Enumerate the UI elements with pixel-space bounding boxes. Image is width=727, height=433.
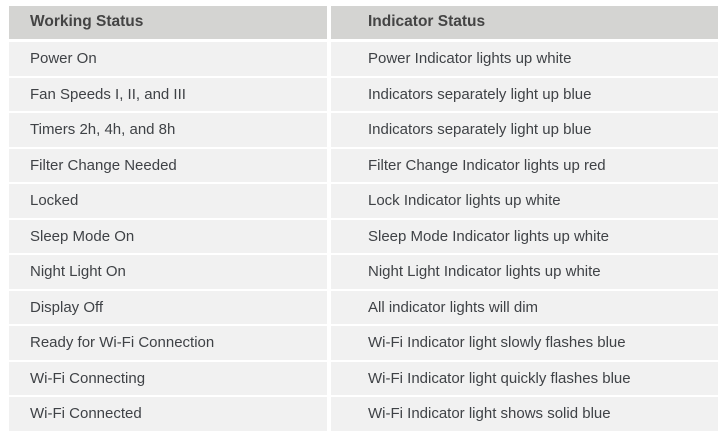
table-row: Locked Lock Indicator lights up white — [9, 182, 718, 218]
table-row: Power On Power Indicator lights up white — [9, 39, 718, 76]
table-row: Filter Change Needed Filter Change Indic… — [9, 147, 718, 183]
cell-working-status: Power On — [9, 39, 327, 76]
cell-working-status-text: Timers 2h, 4h, and 8h — [9, 121, 327, 138]
column-header-working-status: Working Status — [9, 6, 327, 39]
working-status-indicator-table: Working Status Indicator Status Power On… — [9, 6, 718, 431]
table-row: Display Off All indicator lights will di… — [9, 289, 718, 325]
cell-working-status-text: Sleep Mode On — [9, 228, 327, 245]
cell-indicator-status-text: Wi-Fi Indicator light quickly flashes bl… — [331, 370, 718, 387]
table-row: Timers 2h, 4h, and 8h Indicators separat… — [9, 111, 718, 147]
cell-indicator-status: Wi-Fi Indicator light shows solid blue — [331, 395, 718, 431]
column-header-indicator-status-label: Indicator Status — [331, 13, 718, 31]
cell-working-status-text: Night Light On — [9, 263, 327, 280]
cell-indicator-status-text: Night Light Indicator lights up white — [331, 263, 718, 280]
cell-working-status: Sleep Mode On — [9, 218, 327, 254]
cell-indicator-status-text: Filter Change Indicator lights up red — [331, 157, 718, 174]
cell-working-status: Filter Change Needed — [9, 147, 327, 183]
table-row: Fan Speeds I, II, and III Indicators sep… — [9, 76, 718, 112]
cell-indicator-status-text: Wi-Fi Indicator light shows solid blue — [331, 405, 718, 422]
cell-working-status: Ready for Wi-Fi Connection — [9, 324, 327, 360]
cell-working-status: Night Light On — [9, 253, 327, 289]
cell-working-status-text: Fan Speeds I, II, and III — [9, 86, 327, 103]
cell-indicator-status: All indicator lights will dim — [331, 289, 718, 325]
table-row: Night Light On Night Light Indicator lig… — [9, 253, 718, 289]
cell-indicator-status: Power Indicator lights up white — [331, 39, 718, 76]
cell-working-status-text: Filter Change Needed — [9, 157, 327, 174]
cell-indicator-status-text: Sleep Mode Indicator lights up white — [331, 228, 718, 245]
cell-indicator-status: Sleep Mode Indicator lights up white — [331, 218, 718, 254]
cell-indicator-status: Filter Change Indicator lights up red — [331, 147, 718, 183]
cell-working-status-text: Locked — [9, 192, 327, 209]
table-row: Sleep Mode On Sleep Mode Indicator light… — [9, 218, 718, 254]
cell-working-status: Locked — [9, 182, 327, 218]
cell-indicator-status: Indicators separately light up blue — [331, 76, 718, 112]
column-header-indicator-status: Indicator Status — [331, 6, 718, 39]
cell-working-status: Wi-Fi Connected — [9, 395, 327, 431]
cell-indicator-status: Night Light Indicator lights up white — [331, 253, 718, 289]
cell-working-status: Wi-Fi Connecting — [9, 360, 327, 396]
cell-indicator-status-text: Indicators separately light up blue — [331, 86, 718, 103]
table-body: Power On Power Indicator lights up white… — [9, 39, 718, 431]
cell-working-status-text: Power On — [9, 50, 327, 67]
cell-working-status-text: Ready for Wi-Fi Connection — [9, 334, 327, 351]
cell-indicator-status-text: Power Indicator lights up white — [331, 50, 718, 67]
table-header: Working Status Indicator Status — [9, 6, 718, 39]
header-row: Working Status Indicator Status — [9, 6, 718, 39]
cell-working-status: Fan Speeds I, II, and III — [9, 76, 327, 112]
cell-indicator-status-text: Indicators separately light up blue — [331, 121, 718, 138]
cell-indicator-status-text: Lock Indicator lights up white — [331, 192, 718, 209]
table-row: Ready for Wi-Fi Connection Wi-Fi Indicat… — [9, 324, 718, 360]
cell-working-status-text: Display Off — [9, 299, 327, 316]
column-header-working-status-label: Working Status — [9, 13, 327, 31]
cell-working-status: Timers 2h, 4h, and 8h — [9, 111, 327, 147]
cell-indicator-status: Wi-Fi Indicator light quickly flashes bl… — [331, 360, 718, 396]
cell-working-status: Display Off — [9, 289, 327, 325]
cell-indicator-status: Lock Indicator lights up white — [331, 182, 718, 218]
table-row: Wi-Fi Connecting Wi-Fi Indicator light q… — [9, 360, 718, 396]
cell-indicator-status-text: Wi-Fi Indicator light slowly flashes blu… — [331, 334, 718, 351]
cell-indicator-status: Wi-Fi Indicator light slowly flashes blu… — [331, 324, 718, 360]
status-table-container: Working Status Indicator Status Power On… — [9, 6, 718, 427]
table-row: Wi-Fi Connected Wi-Fi Indicator light sh… — [9, 395, 718, 431]
cell-indicator-status: Indicators separately light up blue — [331, 111, 718, 147]
cell-working-status-text: Wi-Fi Connecting — [9, 370, 327, 387]
cell-indicator-status-text: All indicator lights will dim — [331, 299, 718, 316]
cell-working-status-text: Wi-Fi Connected — [9, 405, 327, 422]
